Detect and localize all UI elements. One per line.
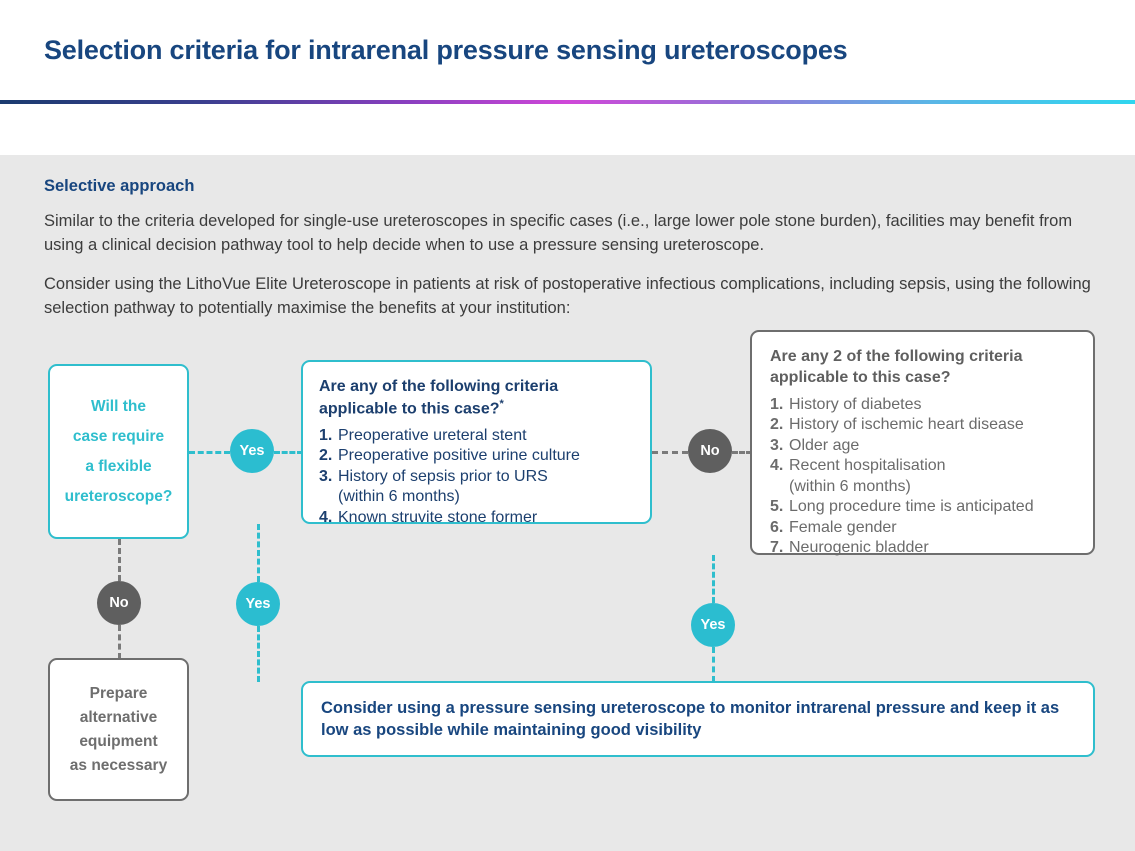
node-prepare-alternative-equipment[interactable]: Prepare alternative equipment as necessa…: [48, 658, 189, 801]
badge-no-criteria-any[interactable]: No: [688, 429, 732, 473]
node-prepare-line-2: alternative: [80, 706, 158, 730]
node-flexible-line-1: Will the: [91, 392, 146, 422]
criteria-two-num-1: 1.: [770, 395, 789, 415]
list-item: (within 6 months): [770, 477, 1075, 497]
criteria-two-list: 1.History of diabetes 2.History of ische…: [770, 395, 1075, 559]
node-criteria-any-question[interactable]: Are any of the following criteria applic…: [301, 360, 652, 524]
node-flexible-line-3: a flexible: [85, 452, 151, 482]
criteria-any-text-3: History of sepsis prior to URS: [338, 467, 548, 487]
connector-criteria-any-to-no1: [652, 451, 688, 454]
page-header: Selection criteria for intrarenal pressu…: [0, 0, 1135, 100]
list-item: 6.Female gender: [770, 518, 1075, 538]
criteria-two-text-5: Long procedure time is anticipated: [789, 497, 1034, 517]
badge-no-flexible[interactable]: No: [97, 581, 141, 625]
list-item: 2.History of ischemic heart disease: [770, 415, 1075, 435]
list-item: 1.Preoperative ureteral stent: [319, 426, 634, 446]
list-item: 7.Neurogenic bladder: [770, 538, 1075, 558]
connector-criteria-any-to-yes2: [257, 524, 260, 582]
criteria-two-text-4: Recent hospitalisation: [789, 456, 946, 476]
connector-criteria-two-to-yes3: [712, 555, 715, 603]
criteria-two-text-7: Neurogenic bladder: [789, 538, 929, 558]
criteria-two-num-6: 6.: [770, 518, 789, 538]
list-item: 1.History of diabetes: [770, 395, 1075, 415]
criteria-any-asterisk: *: [500, 398, 504, 410]
badge-yes-criteria-two[interactable]: Yes: [691, 603, 735, 647]
node-flexible-line-4: ureteroscope?: [65, 482, 173, 512]
criteria-any-list: 1.Preoperative ureteral stent 2.Preopera…: [319, 426, 634, 528]
node-criteria-two-question[interactable]: Are any 2 of the following criteria appl…: [750, 330, 1095, 555]
criteria-any-text-4: Known struvite stone former: [338, 508, 537, 528]
badge-yes-flexible[interactable]: Yes: [230, 429, 274, 473]
connector-yes3-to-conclusion: [712, 647, 715, 682]
page-title: Selection criteria for intrarenal pressu…: [44, 35, 848, 66]
criteria-two-num-2: 2.: [770, 415, 789, 435]
node-conclusion-recommendation[interactable]: Consider using a pressure sensing ureter…: [301, 681, 1095, 757]
criteria-any-num-3: 3.: [319, 467, 338, 487]
list-item: 4.Known struvite stone former: [319, 508, 634, 528]
connector-flexible-to-no2: [118, 539, 121, 581]
content-panel: Selective approach Similar to the criter…: [0, 155, 1135, 851]
badge-yes-criteria-any[interactable]: Yes: [236, 582, 280, 626]
criteria-two-num-5: 5.: [770, 497, 789, 517]
node-will-case-require-flexible-ureteroscope[interactable]: Will the case require a flexible uretero…: [48, 364, 189, 539]
criteria-any-title-text: Are any of the following criteria applic…: [319, 378, 558, 416]
decision-flow-diagram: Will the case require a flexible uretero…: [44, 336, 1097, 796]
criteria-any-text-3-cont: (within 6 months): [338, 487, 460, 507]
criteria-any-num-4: 4.: [319, 508, 338, 528]
criteria-two-num-3: 3.: [770, 436, 789, 456]
intro-paragraph-2: Consider using the LithoVue Elite Ureter…: [44, 273, 1097, 320]
criteria-two-title: Are any 2 of the following criteria appl…: [770, 347, 1075, 387]
list-item: 3.Older age: [770, 436, 1075, 456]
criteria-two-text-3: Older age: [789, 436, 859, 456]
connector-flexible-to-yes1: [189, 451, 230, 454]
criteria-two-num-4: 4.: [770, 456, 789, 476]
criteria-any-title: Are any of the following criteria applic…: [319, 377, 634, 419]
connector-no1-to-criteria-two: [732, 451, 752, 454]
list-item: 2.Preoperative positive urine culture: [319, 446, 634, 466]
list-item: 5.Long procedure time is anticipated: [770, 497, 1075, 517]
criteria-any-text-2: Preoperative positive urine culture: [338, 446, 580, 466]
list-item: 3.History of sepsis prior to URS: [319, 467, 634, 487]
criteria-any-text-1: Preoperative ureteral stent: [338, 426, 527, 446]
list-item: 4.Recent hospitalisation: [770, 456, 1075, 476]
criteria-any-num-2: 2.: [319, 446, 338, 466]
node-prepare-line-1: Prepare: [90, 682, 148, 706]
connector-yes1-to-criteria-any: [274, 451, 303, 454]
criteria-two-num-7: 7.: [770, 538, 789, 558]
connector-no2-to-prepare: [118, 625, 121, 659]
node-prepare-line-3: equipment: [79, 730, 157, 754]
criteria-any-num-1: 1.: [319, 426, 338, 446]
list-item: (within 6 months): [319, 487, 634, 507]
criteria-two-text-1: History of diabetes: [789, 395, 922, 415]
criteria-two-text-4-cont: (within 6 months): [789, 477, 911, 497]
conclusion-text: Consider using a pressure sensing ureter…: [321, 697, 1075, 743]
node-flexible-line-2: case require: [73, 422, 164, 452]
connector-yes2-to-conclusion: [257, 626, 260, 682]
intro-paragraph-1: Similar to the criteria developed for si…: [44, 210, 1097, 257]
criteria-two-text-2: History of ischemic heart disease: [789, 415, 1024, 435]
header-spacer: [0, 104, 1135, 152]
criteria-two-text-6: Female gender: [789, 518, 897, 538]
node-prepare-line-4: as necessary: [70, 754, 167, 778]
section-heading: Selective approach: [44, 177, 1097, 196]
